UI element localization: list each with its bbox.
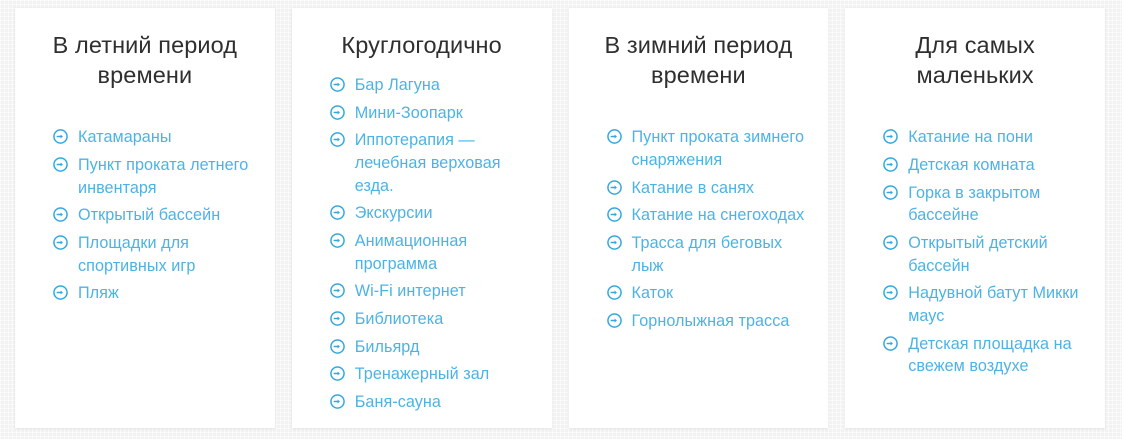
list-item-label: Детская комната xyxy=(908,156,1034,174)
feature-card-kids: Для самых маленьких Катание на пони Детс… xyxy=(845,8,1105,428)
list-item-label: Детская площадка на свежем воздухе xyxy=(908,335,1071,376)
list-item-label: Горка в закрытом бассейне xyxy=(908,184,1040,225)
list-item-label: Тренажерный зал xyxy=(355,365,490,383)
circle-arrow-right-icon xyxy=(330,205,345,220)
list-item-label: Катание в санях xyxy=(632,179,755,197)
list-item-label: Трасса для беговых лыж xyxy=(632,234,783,275)
list-item[interactable]: Катание на снегоходах xyxy=(607,204,811,227)
list-item[interactable]: Надувной батут Микки маус xyxy=(883,282,1087,327)
card-title: Для самых маленьких xyxy=(863,30,1087,90)
card-title: В летний период времени xyxy=(33,30,257,90)
list-item[interactable]: Бильярд xyxy=(330,336,534,359)
card-title: В зимний период времени xyxy=(587,30,811,90)
circle-arrow-right-icon xyxy=(53,285,68,300)
circle-arrow-right-icon xyxy=(330,339,345,354)
list-item-label: Анимационная программа xyxy=(355,232,467,273)
circle-arrow-right-icon xyxy=(330,105,345,120)
list-item[interactable]: Горка в закрытом бассейне xyxy=(883,182,1087,227)
list-item-label: Горнолыжная трасса xyxy=(632,312,790,330)
circle-arrow-right-icon xyxy=(330,283,345,298)
list-item[interactable]: Wi-Fi интернет xyxy=(330,280,534,303)
list-item[interactable]: Горнолыжная трасса xyxy=(607,310,811,333)
feature-list: Пункт проката зимнего снаряжения Катание… xyxy=(587,126,811,332)
list-item-label: Экскурсии xyxy=(355,204,433,222)
circle-arrow-right-icon xyxy=(330,77,345,92)
feature-card-summer: В летний период времени Катамараны Пункт… xyxy=(15,8,275,428)
list-item[interactable]: Пляж xyxy=(53,282,257,305)
list-item-label: Бильярд xyxy=(355,338,420,356)
list-item-label: Каток xyxy=(632,284,674,302)
circle-arrow-right-icon xyxy=(607,129,622,144)
list-item[interactable]: Анимационная программа xyxy=(330,230,534,275)
list-item-label: Мини-Зоопарк xyxy=(355,104,463,122)
circle-arrow-right-icon xyxy=(883,157,898,172)
list-item-label: Пункт проката зимнего снаряжения xyxy=(632,128,805,169)
list-item-label: Баня-сауна xyxy=(355,393,441,411)
circle-arrow-right-icon xyxy=(330,394,345,409)
circle-arrow-right-icon xyxy=(607,207,622,222)
list-item[interactable]: Пункт проката летнего инвентаря xyxy=(53,154,257,199)
circle-arrow-right-icon xyxy=(53,207,68,222)
circle-arrow-right-icon xyxy=(607,285,622,300)
list-item[interactable]: Мини-Зоопарк xyxy=(330,102,534,125)
list-item-label: Катание на снегоходах xyxy=(632,206,805,224)
list-item[interactable]: Бар Лагуна xyxy=(330,74,534,97)
circle-arrow-right-icon xyxy=(53,235,68,250)
circle-arrow-right-icon xyxy=(53,129,68,144)
circle-arrow-right-icon xyxy=(607,180,622,195)
list-item-label: Пляж xyxy=(78,284,119,302)
list-item[interactable]: Катание на пони xyxy=(883,126,1087,149)
circle-arrow-right-icon xyxy=(330,132,345,147)
feature-list: Бар Лагуна Мини-Зоопарк Иппотерапия — ле… xyxy=(310,74,534,414)
list-item[interactable]: Открытый детский бассейн xyxy=(883,232,1087,277)
list-item-label: Открытый детский бассейн xyxy=(908,234,1048,275)
feature-card-yearround: Круглогодично Бар Лагуна Мини-Зоопарк Ип… xyxy=(292,8,552,428)
list-item[interactable]: Баня-сауна xyxy=(330,391,534,414)
circle-arrow-right-icon xyxy=(883,336,898,351)
list-item-label: Катание на пони xyxy=(908,128,1033,146)
list-item-label: Бар Лагуна xyxy=(355,76,440,94)
circle-arrow-right-icon xyxy=(607,313,622,328)
list-item[interactable]: Детская комната xyxy=(883,154,1087,177)
circle-arrow-right-icon xyxy=(330,311,345,326)
list-item-label: Wi-Fi интернет xyxy=(355,282,466,300)
list-item[interactable]: Площадки для спортивных игр xyxy=(53,232,257,277)
feature-columns-board: В летний период времени Катамараны Пункт… xyxy=(0,0,1122,439)
list-item-label: Катамараны xyxy=(78,128,172,146)
circle-arrow-right-icon xyxy=(883,235,898,250)
feature-card-winter: В зимний период времени Пункт проката зи… xyxy=(569,8,829,428)
list-item[interactable]: Катание в санях xyxy=(607,177,811,200)
circle-arrow-right-icon xyxy=(883,129,898,144)
list-item[interactable]: Тренажерный зал xyxy=(330,363,534,386)
circle-arrow-right-icon xyxy=(607,235,622,250)
list-item-label: Открытый бассейн xyxy=(78,206,220,224)
feature-list: Катамараны Пункт проката летнего инвента… xyxy=(33,126,257,305)
list-item-label: Площадки для спортивных игр xyxy=(78,234,195,275)
card-title: Круглогодично xyxy=(310,30,534,60)
circle-arrow-right-icon xyxy=(330,366,345,381)
feature-list: Катание на пони Детская комната Горка в … xyxy=(863,126,1087,378)
circle-arrow-right-icon xyxy=(53,157,68,172)
list-item[interactable]: Экскурсии xyxy=(330,202,534,225)
list-item[interactable]: Каток xyxy=(607,282,811,305)
list-item[interactable]: Открытый бассейн xyxy=(53,204,257,227)
circle-arrow-right-icon xyxy=(883,285,898,300)
circle-arrow-right-icon xyxy=(330,233,345,248)
list-item[interactable]: Иппотерапия — лечебная верховая езда. xyxy=(330,129,534,197)
list-item[interactable]: Трасса для беговых лыж xyxy=(607,232,811,277)
list-item-label: Надувной батут Микки маус xyxy=(908,284,1078,325)
list-item-label: Иппотерапия — лечебная верховая езда. xyxy=(355,131,501,194)
list-item-label: Библиотека xyxy=(355,310,444,328)
list-item[interactable]: Пункт проката зимнего снаряжения xyxy=(607,126,811,171)
list-item-label: Пункт проката летнего инвентаря xyxy=(78,156,248,197)
circle-arrow-right-icon xyxy=(883,185,898,200)
list-item[interactable]: Библиотека xyxy=(330,308,534,331)
list-item[interactable]: Катамараны xyxy=(53,126,257,149)
list-item[interactable]: Детская площадка на свежем воздухе xyxy=(883,333,1087,378)
